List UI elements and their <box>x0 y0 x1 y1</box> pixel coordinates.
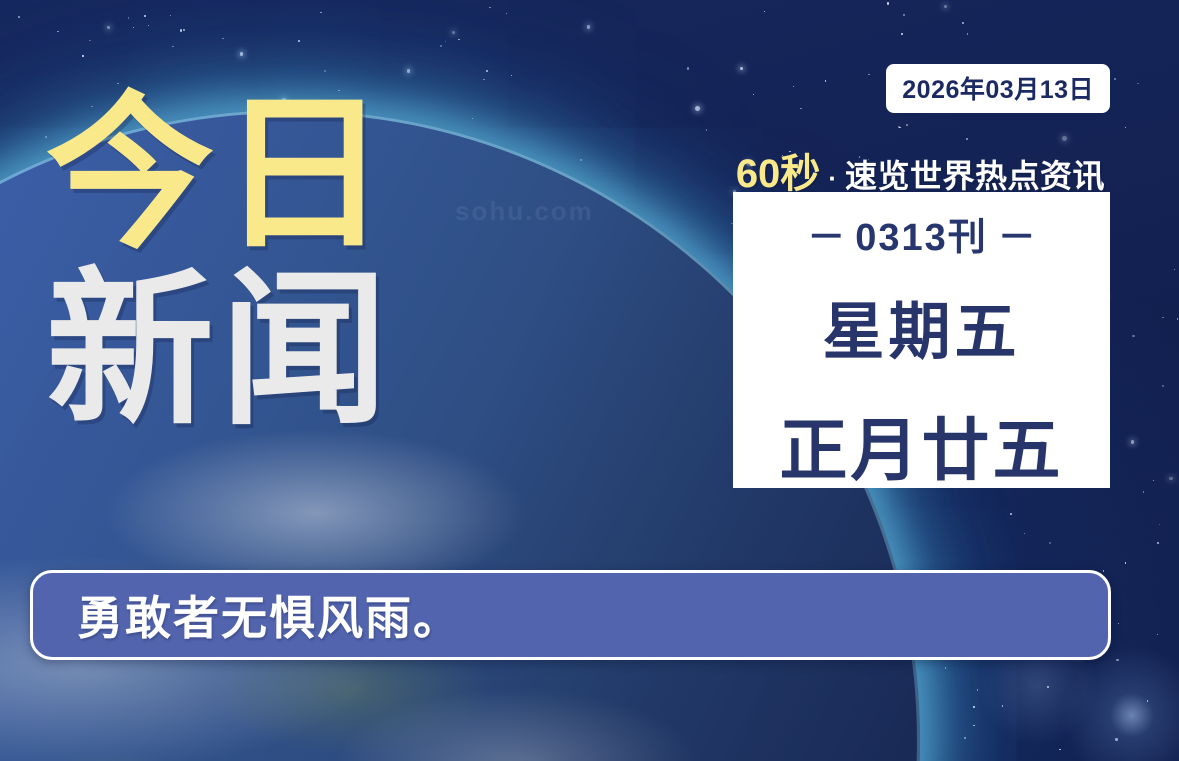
news-poster: sohu.com 今日 新闻 2026年03月13日 60秒 · 速览世界热点资… <box>0 0 1179 761</box>
weekday-label: 星期五 <box>822 281 1020 371</box>
quote-text: 勇敢者无惧风雨。 <box>33 582 461 648</box>
tagline-description: 速览世界热点资讯 <box>845 151 1105 197</box>
quote-banner: 勇敢者无惧风雨。 <box>30 570 1111 660</box>
tagline-seconds: 60秒 <box>736 141 821 199</box>
issue-dash-left: － <box>797 217 855 259</box>
date-badge: 2026年03月13日 <box>886 64 1110 113</box>
date-card: －0313刊－ 星期五 正月廿五 <box>733 192 1110 488</box>
lunar-date-label: 正月廿五 <box>779 395 1063 494</box>
title-line-xinwen: 新闻 <box>46 272 394 430</box>
page-title: 今日 新闻 <box>46 96 394 430</box>
issue-dash-right: － <box>988 217 1046 259</box>
issue-number: 0313刊 <box>855 217 988 259</box>
tagline: 60秒 · 速览世界热点资讯 <box>736 141 1105 199</box>
watermark-text: sohu.com <box>455 196 594 227</box>
tagline-separator: · <box>826 163 839 194</box>
title-line-jinri: 今日 <box>46 96 394 254</box>
issue-number-row: －0313刊－ <box>797 206 1046 261</box>
